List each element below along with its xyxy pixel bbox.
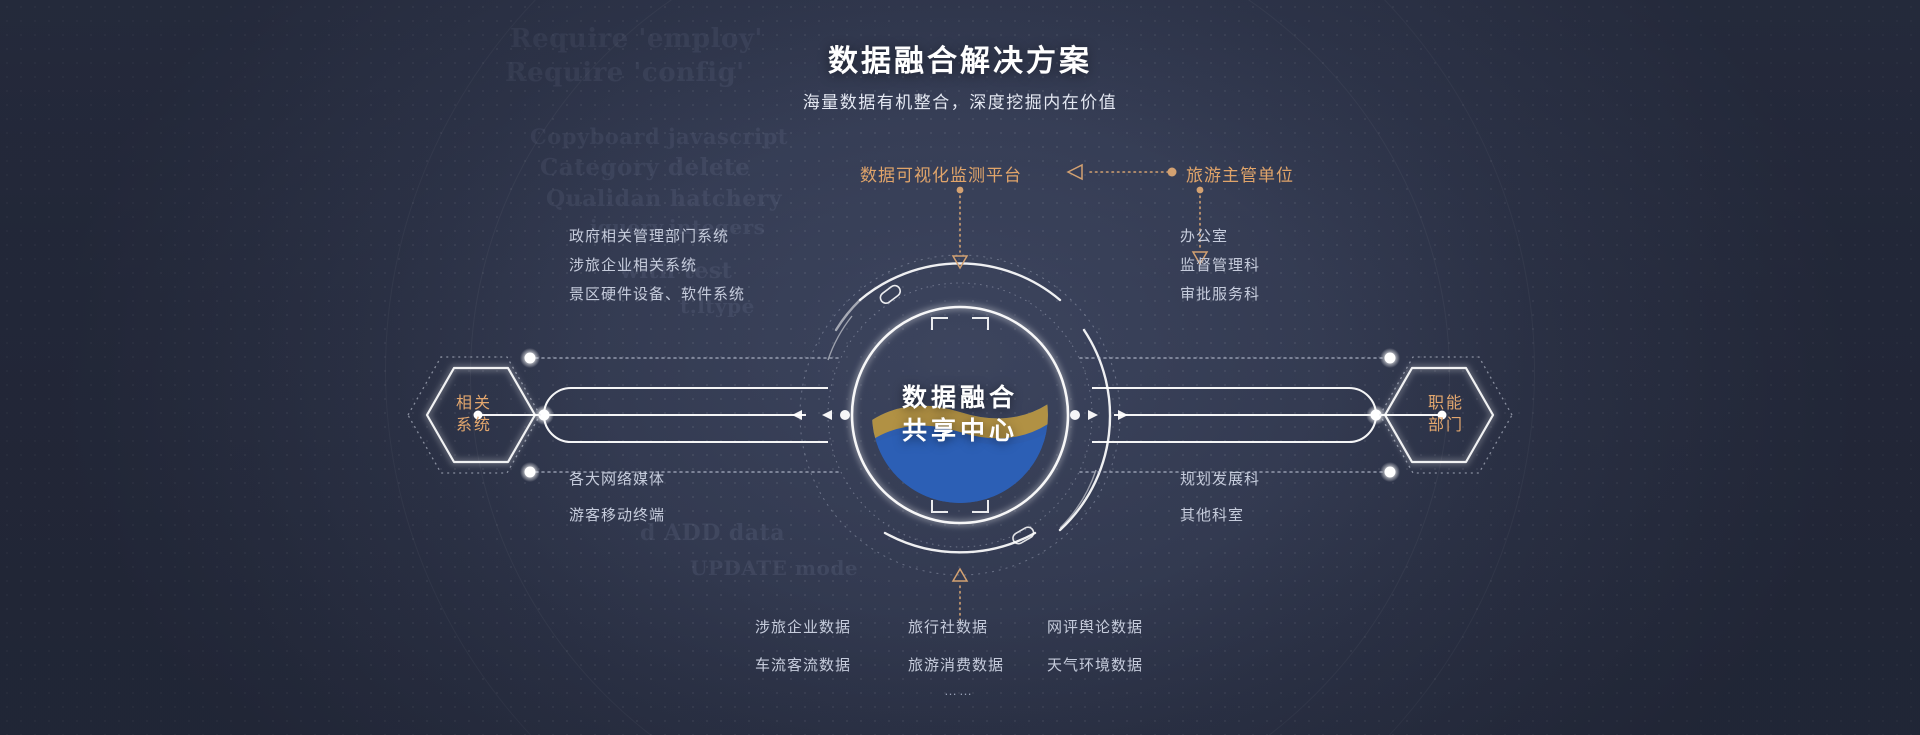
left-item-tourism-enterprise-systems[interactable]: 涉旅企业相关系统 <box>569 254 697 275</box>
hex-left-line1: 相关 <box>456 393 492 415</box>
hexagon-left-related-systems[interactable]: 相关 系统 <box>414 352 534 478</box>
bottom-item-travel-agency-data[interactable]: 旅行社数据 <box>908 616 988 637</box>
label-data-visualization-platform[interactable]: 数据可视化监测平台 <box>860 161 1022 186</box>
bottom-item-tourism-consumption-data[interactable]: 旅游消费数据 <box>908 654 1004 675</box>
left-item-government-systems[interactable]: 政府相关管理部门系统 <box>569 225 729 246</box>
top-horizontal-connector <box>1068 165 1177 179</box>
left-item-network-media[interactable]: 各大网络媒体 <box>569 468 665 489</box>
right-item-office[interactable]: 办公室 <box>1180 225 1228 246</box>
right-flow-arrows <box>1070 410 1128 420</box>
left-flow-arrows <box>792 410 850 420</box>
hex-left-line2: 系统 <box>456 415 492 437</box>
top-left-vertical-connector <box>953 187 967 268</box>
right-item-planning-development[interactable]: 规划发展科 <box>1180 468 1260 489</box>
bottom-item-traffic-flow-data[interactable]: 车流客流数据 <box>755 654 851 675</box>
hex-right-line2: 部门 <box>1428 415 1464 437</box>
page-subtitle: 海量数据有机整合，深度挖掘内在价值 <box>0 88 1920 113</box>
right-item-other-offices[interactable]: 其他科室 <box>1180 504 1244 525</box>
left-item-scenic-hardware-software[interactable]: 景区硬件设备、软件系统 <box>569 283 745 304</box>
infographic-stage: Require 'employ' Require 'config' Copybo… <box>0 0 1920 735</box>
hexagon-right-functional-departments[interactable]: 职能 部门 <box>1386 352 1506 478</box>
bottom-vertical-connector <box>953 569 967 620</box>
left-item-tourist-mobile-terminal[interactable]: 游客移动终端 <box>569 504 665 525</box>
right-item-approval-service[interactable]: 审批服务科 <box>1180 283 1260 304</box>
bottom-ellipsis: …… <box>944 683 974 698</box>
bottom-item-online-review-data[interactable]: 网评舆论数据 <box>1047 616 1143 637</box>
liquid-sphere <box>872 404 1048 512</box>
page-title: 数据融合解决方案 <box>0 36 1920 80</box>
bottom-item-weather-environment-data[interactable]: 天气环境数据 <box>1047 654 1143 675</box>
bottom-item-enterprise-data[interactable]: 涉旅企业数据 <box>755 616 851 637</box>
label-tourism-authority[interactable]: 旅游主管单位 <box>1186 161 1294 186</box>
hex-right-line1: 职能 <box>1428 393 1464 415</box>
right-item-supervision-department[interactable]: 监督管理科 <box>1180 254 1260 275</box>
